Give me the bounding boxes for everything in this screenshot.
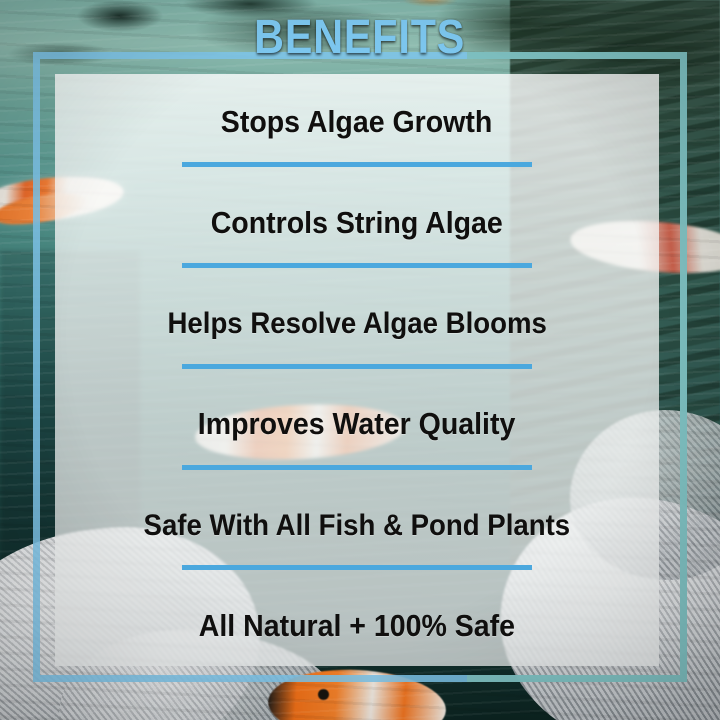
benefit-label: Controls String Algae <box>211 207 503 239</box>
benefit-label: All Natural + 100% Safe <box>199 610 515 642</box>
benefit-label: Safe With All Fish & Pond Plants <box>144 510 571 541</box>
benefit-divider <box>182 565 532 570</box>
list-item: All Natural + 100% Safe <box>55 610 659 642</box>
benefit-divider <box>182 162 532 167</box>
benefit-label: Stops Algae Growth <box>221 106 492 138</box>
page-title: BENEFITS <box>254 14 465 62</box>
page-title-container: BENEFITS <box>0 14 720 62</box>
benefit-divider <box>182 465 532 470</box>
benefit-label: Improves Water Quality <box>198 408 516 440</box>
benefit-divider <box>182 263 532 268</box>
list-item: Stops Algae Growth <box>55 106 659 167</box>
list-item: Helps Resolve Algae Blooms <box>55 308 659 368</box>
benefits-infographic: BENEFITS Stops Algae Growth Controls Str… <box>0 0 720 720</box>
list-item: Controls String Algae <box>55 207 659 268</box>
benefit-label: Helps Resolve Algae Blooms <box>167 308 546 339</box>
list-item: Improves Water Quality <box>55 408 659 469</box>
benefits-list: Stops Algae Growth Controls String Algae… <box>55 80 659 666</box>
benefit-divider <box>182 364 532 369</box>
list-item: Safe With All Fish & Pond Plants <box>55 510 659 570</box>
